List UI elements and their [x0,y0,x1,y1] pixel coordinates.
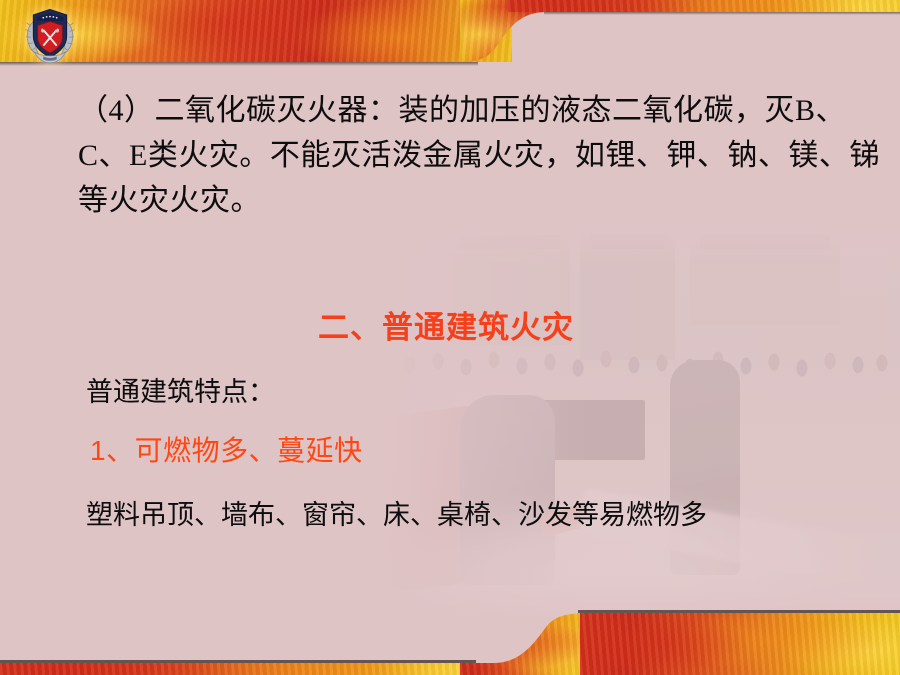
footer-band-edge [578,610,900,613]
bullet-point-1: 1、可燃物多、蔓延快 [90,429,363,469]
slide-content: （4）二氧化碳灭火器：装的加压的液态二氧化碳，灭B、C、E类火灾。不能灭活泼金属… [0,0,900,675]
section-heading: 二、普通建筑火灾 [318,302,574,347]
footer-fire-band-thin [0,663,512,675]
body-paragraph: （4）二氧化碳灭火器：装的加压的液态二氧化碳，灭B、C、E类火灾。不能灭活泼金属… [78,88,890,223]
bullet-point-1-detail: 塑料吊顶、墙布、窗帘、床、桌椅、沙发等易燃物多 [86,495,886,536]
footer-fire-band [580,613,900,675]
feature-label: 普通建筑特点： [86,370,275,409]
presentation-slide: （4）二氧化碳灭火器：装的加压的液态二氧化碳，灭B、C、E类火灾。不能灭活泼金属… [0,0,900,675]
